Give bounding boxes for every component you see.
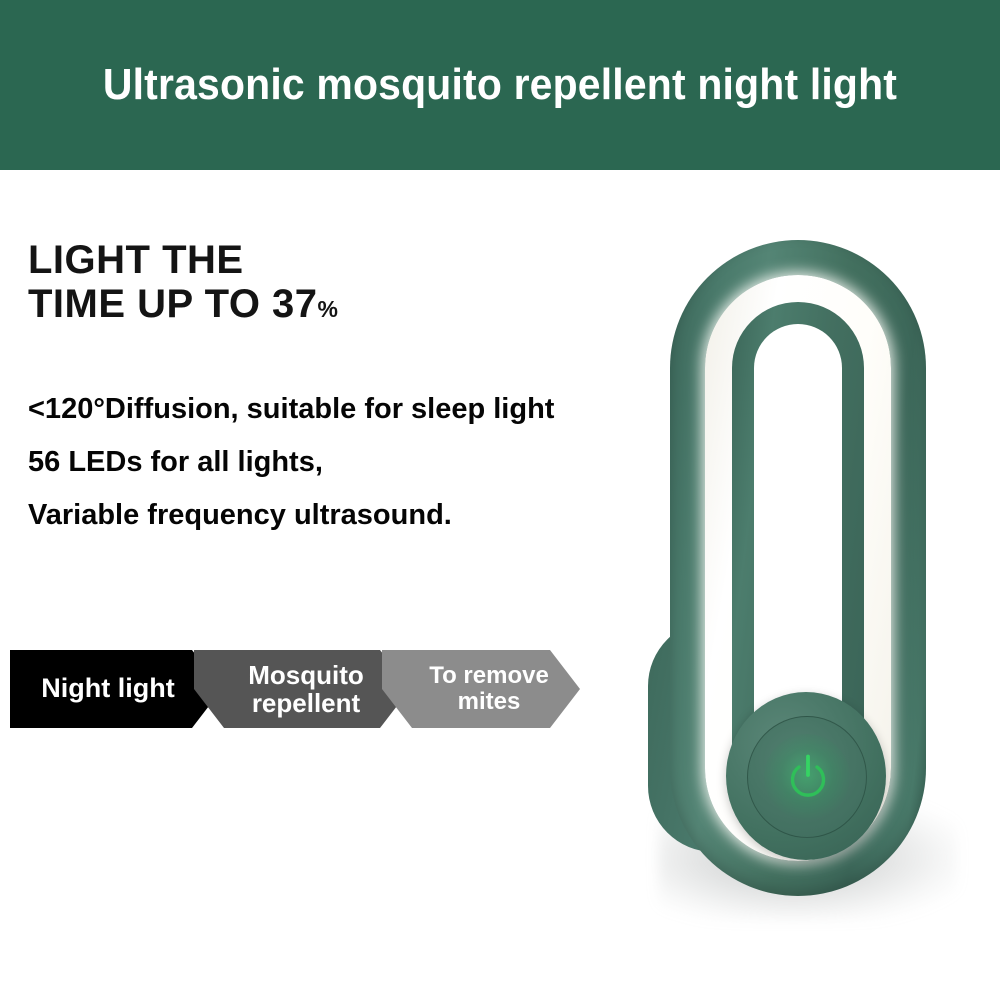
page-title: Ultrasonic mosquito repellent night ligh… — [35, 0, 965, 170]
headline-line-2: TIME UP TO 37% — [28, 282, 338, 331]
feature-line-ultrasound: Variable frequency ultrasound. — [28, 489, 668, 542]
mode-chevron-night-light[interactable]: Night light — [10, 650, 222, 728]
product-marketing-image: Ultrasonic mosquito repellent night ligh… — [0, 0, 1000, 1000]
mode-chevron-mosquito-repellent-label: Mosquito repellent — [194, 661, 410, 717]
headline-block: LIGHT THE TIME UP TO 37% — [28, 238, 338, 331]
power-icon — [786, 754, 830, 800]
feature-line-leds: 56 LEDs for all lights, — [28, 436, 668, 489]
headline-percent-symbol: % — [318, 296, 338, 322]
mode-chevron-remove-mites-label: To remove mites — [382, 663, 580, 715]
product-alt-text: Green oval ultrasonic mosquito repellent… — [648, 240, 649, 241]
mode-chevron-remove-mites[interactable]: To remove mites — [382, 650, 580, 728]
feature-line-diffusion: <120°Diffusion, suitable for sleep light — [28, 383, 668, 436]
power-button-ring — [747, 716, 867, 838]
power-button-glow — [764, 734, 850, 820]
lamp-open-window — [754, 324, 842, 744]
headline-line-1: LIGHT THE — [28, 238, 338, 282]
mode-chevron-mosquito-repellent[interactable]: Mosquito repellent — [194, 650, 410, 728]
headline-line-2-text: TIME UP TO 37 — [28, 282, 318, 326]
power-button-housing[interactable] — [726, 692, 886, 860]
feature-list: <120°Diffusion, suitable for sleep light… — [28, 383, 668, 542]
mode-chevron-night-light-label: Night light — [10, 674, 222, 703]
mode-chevron-strip: Night light Mosquito repellent To remove… — [10, 650, 580, 728]
product-image: Green oval ultrasonic mosquito repellent… — [648, 240, 948, 920]
